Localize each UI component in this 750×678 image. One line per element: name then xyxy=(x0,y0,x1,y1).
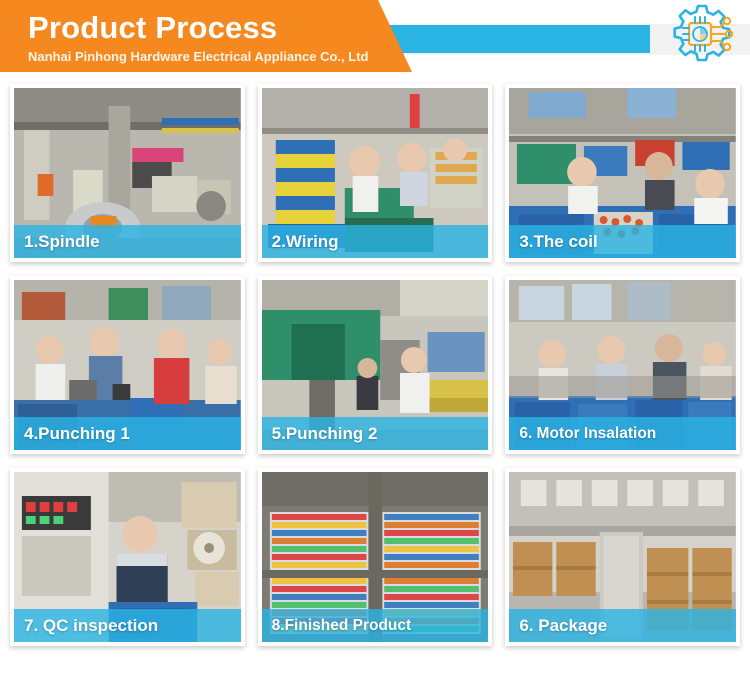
process-grid: 1.Spindle xyxy=(0,78,750,646)
process-label: 1.Spindle xyxy=(14,232,100,252)
process-label-band: 7. QC inspection xyxy=(14,609,241,642)
process-card[interactable]: 4.Punching 1 xyxy=(10,276,245,454)
company-name: Nanhai Pinhong Hardware Electrical Appli… xyxy=(28,48,368,66)
process-label-band: 5.Punching 2 xyxy=(262,417,489,450)
process-label: 2.Wiring xyxy=(262,232,339,252)
product-process-page: Product Process Nanhai Pinhong Hardware … xyxy=(0,0,750,678)
process-label-band: 4.Punching 1 xyxy=(14,417,241,450)
process-label-band: 3.The coil xyxy=(509,225,736,258)
process-label: 7. QC inspection xyxy=(14,616,158,636)
process-card[interactable]: 6. Package xyxy=(505,468,740,646)
process-label-band: 8.Finished Product xyxy=(262,609,489,642)
process-label: 3.The coil xyxy=(509,232,597,252)
gear-chip-icon xyxy=(658,2,748,76)
process-label: 6. Package xyxy=(509,616,607,636)
process-card[interactable]: 7. QC inspection xyxy=(10,468,245,646)
process-label-band: 2.Wiring xyxy=(262,225,489,258)
process-card[interactable]: 5.Punching 2 xyxy=(258,276,493,454)
page-title: Product Process xyxy=(28,8,277,48)
process-label: 5.Punching 2 xyxy=(262,424,378,444)
process-label: 6. Motor Insalation xyxy=(509,425,656,443)
process-label-band: 1.Spindle xyxy=(14,225,241,258)
process-label-band: 6. Motor Insalation xyxy=(509,417,736,450)
process-card[interactable]: 3.The coil xyxy=(505,84,740,262)
process-card[interactable]: 2.Wiring xyxy=(258,84,493,262)
header-cyan-bar xyxy=(390,25,650,53)
process-label-band: 6. Package xyxy=(509,609,736,642)
process-card[interactable]: 8.Finished Product xyxy=(258,468,493,646)
process-card[interactable]: 1.Spindle xyxy=(10,84,245,262)
process-label: 8.Finished Product xyxy=(262,617,412,635)
process-card[interactable]: 6. Motor Insalation xyxy=(505,276,740,454)
page-header: Product Process Nanhai Pinhong Hardware … xyxy=(0,0,750,78)
process-label: 4.Punching 1 xyxy=(14,424,130,444)
